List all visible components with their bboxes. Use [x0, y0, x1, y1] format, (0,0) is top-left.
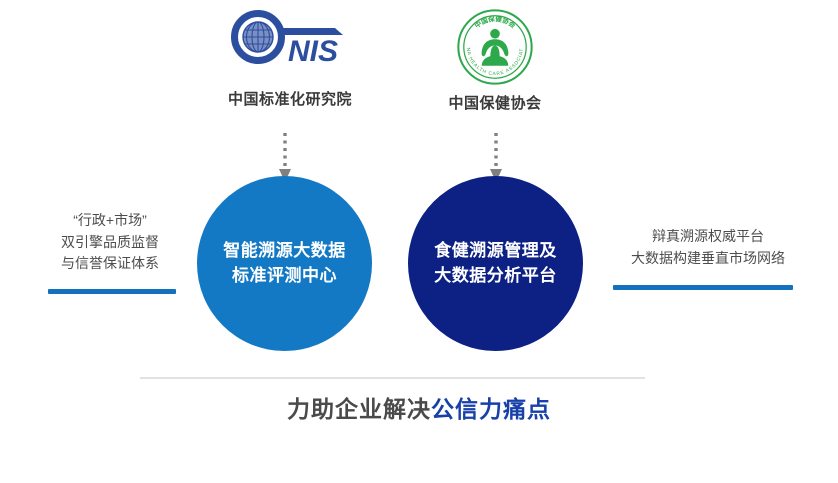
bubble-right: 食健溯源管理及 大数据分析平台 — [408, 176, 583, 351]
footer-headline-blue: 公信力痛点 — [431, 390, 551, 424]
footer-divider — [140, 377, 645, 379]
infographic-canvas: NIS 中国标准化研究院 中国保健协会 — [0, 0, 838, 483]
side-note-left-line-3: 与信誉保证体系 — [20, 253, 200, 275]
svg-text:中国保健协会: 中国保健协会 — [473, 14, 518, 30]
side-note-left-underline — [48, 289, 176, 294]
logo-caption-onis: 中国标准化研究院 — [205, 88, 375, 109]
footer-headline: 力助企业解决公信力痛点 — [0, 390, 838, 424]
side-note-left: “行政+市场” 双引擎品质监督 与信誉保证体系 — [20, 210, 200, 294]
onis-globe-icon: NIS — [205, 8, 375, 70]
logo-caption-china-health-care-association: 中国保健协会 — [410, 92, 580, 113]
bubble-left-line-1: 智能溯源大数据 — [223, 239, 346, 264]
footer-headline-dark: 力助企业解决 — [287, 390, 431, 424]
logo-block-onis: NIS 中国标准化研究院 — [205, 8, 375, 109]
side-note-left-line-1: “行政+市场” — [20, 210, 200, 232]
china-health-care-association-seal-icon: 中国保健协会 CHINA HEALTH CARE ASSOCIATION — [410, 6, 580, 88]
side-note-right-line-2: 大数据构建垂直市场网络 — [598, 248, 818, 270]
bubble-left-line-2: 标准评测中心 — [223, 264, 346, 289]
side-note-right-underline — [613, 285, 793, 290]
side-note-right-line-1: 辩真溯源权威平台 — [598, 226, 818, 248]
side-note-left-line-2: 双引擎品质监督 — [20, 232, 200, 254]
bubble-right-line-1: 食健溯源管理及 — [434, 239, 557, 264]
logo-block-china-health-care-association: 中国保健协会 CHINA HEALTH CARE ASSOCIATION 中国保… — [410, 6, 580, 113]
side-note-right: 辩真溯源权威平台 大数据构建垂直市场网络 — [598, 226, 818, 290]
bubble-left: 智能溯源大数据 标准评测中心 — [197, 176, 372, 351]
svg-text:NIS: NIS — [288, 35, 338, 68]
bubble-right-line-2: 大数据分析平台 — [434, 264, 557, 289]
